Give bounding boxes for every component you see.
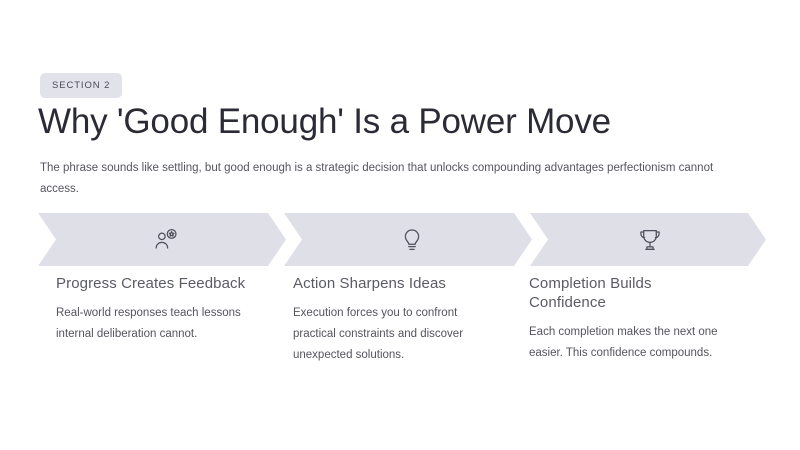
- chevron-step-2[interactable]: [284, 213, 532, 266]
- step-column-2: Action Sharpens Ideas Execution forces y…: [293, 274, 529, 366]
- page-title: Why 'Good Enough' Is a Power Move: [38, 100, 611, 144]
- user-star-icon: [153, 227, 179, 253]
- section-badge: SECTION 2: [40, 73, 122, 98]
- section-badge-label: SECTION 2: [52, 80, 110, 91]
- step-title-2: Action Sharpens Ideas: [293, 274, 484, 293]
- step-body-2: Execution forces you to confront practic…: [293, 303, 484, 366]
- process-chevron-band: [38, 213, 766, 266]
- step-description-columns: Progress Creates Feedback Real-world res…: [56, 274, 768, 366]
- step-body-3: Each completion makes the next one easie…: [529, 322, 723, 364]
- lightbulb-icon: [399, 227, 425, 253]
- step-body-1: Real-world responses teach lessons inter…: [56, 303, 248, 345]
- page-subtitle: The phrase sounds like settling, but goo…: [40, 158, 730, 200]
- chevron-step-3[interactable]: [530, 213, 766, 266]
- trophy-icon: [637, 227, 663, 253]
- slide-canvas: SECTION 2 Why 'Good Enough' Is a Power M…: [0, 0, 800, 450]
- step-column-1: Progress Creates Feedback Real-world res…: [56, 274, 293, 366]
- step-title-3: Completion Builds Confidence: [529, 274, 723, 312]
- chevron-step-1[interactable]: [38, 213, 286, 266]
- step-column-3: Completion Builds Confidence Each comple…: [529, 274, 768, 366]
- step-title-1: Progress Creates Feedback: [56, 274, 248, 293]
